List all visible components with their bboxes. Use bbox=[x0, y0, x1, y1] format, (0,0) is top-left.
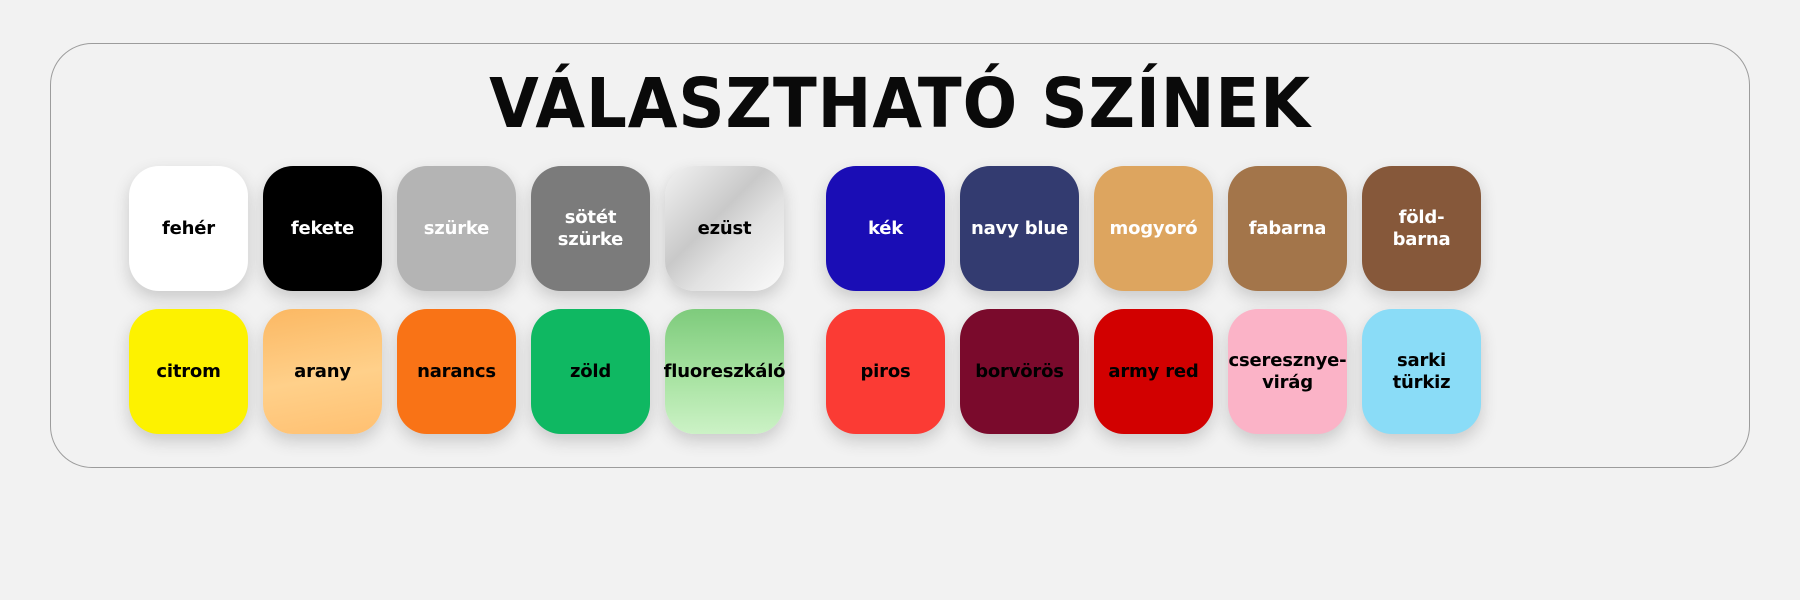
color-swatch-label: arany bbox=[289, 361, 356, 382]
color-swatch-label: piros bbox=[855, 361, 915, 382]
color-swatch-label: army red bbox=[1103, 361, 1203, 382]
color-swatch[interactable]: army red bbox=[1094, 309, 1213, 434]
swatch-group: pirosborvörösarmy redcseresznye- virágsa… bbox=[826, 309, 1481, 434]
swatch-group: fehérfeketeszürkesötét szürkeezüst bbox=[129, 166, 784, 291]
swatch-row: fehérfeketeszürkesötét szürkeezüstkéknav… bbox=[129, 166, 1675, 291]
color-swatch[interactable]: arany bbox=[263, 309, 382, 434]
color-swatch[interactable]: zöld bbox=[531, 309, 650, 434]
color-swatch[interactable]: borvörös bbox=[960, 309, 1079, 434]
color-swatch-label: fabarna bbox=[1244, 218, 1331, 239]
color-swatch[interactable]: fluoreszkáló bbox=[665, 309, 784, 434]
color-swatch[interactable]: sarki türkiz bbox=[1362, 309, 1481, 434]
color-swatch[interactable]: navy blue bbox=[960, 166, 1079, 291]
page-title: VÁLASZTHATÓ SZÍNEK bbox=[110, 70, 1689, 139]
swatch-grid: fehérfeketeszürkesötét szürkeezüstkéknav… bbox=[129, 166, 1675, 434]
color-swatch-label: kék bbox=[863, 218, 908, 239]
color-swatch[interactable]: narancs bbox=[397, 309, 516, 434]
color-swatch[interactable]: sötét szürke bbox=[531, 166, 650, 291]
color-swatch-label: ezüst bbox=[693, 218, 757, 239]
color-swatch[interactable]: fehér bbox=[129, 166, 248, 291]
color-swatch[interactable]: citrom bbox=[129, 309, 248, 434]
color-swatch[interactable]: szürke bbox=[397, 166, 516, 291]
color-swatch-label: narancs bbox=[412, 361, 501, 382]
swatch-group: citromaranynarancszöldfluoreszkáló bbox=[129, 309, 784, 434]
color-swatch[interactable]: ezüst bbox=[665, 166, 784, 291]
color-swatch-label: mogyoró bbox=[1105, 218, 1203, 239]
color-swatch[interactable]: fabarna bbox=[1228, 166, 1347, 291]
color-swatch-label: fekete bbox=[286, 218, 359, 239]
color-swatch[interactable]: mogyoró bbox=[1094, 166, 1213, 291]
color-swatch[interactable]: cseresznye- virág bbox=[1228, 309, 1347, 434]
color-swatch-label: föld- barna bbox=[1388, 207, 1456, 249]
color-swatch-label: navy blue bbox=[966, 218, 1073, 239]
color-swatch-label: szürke bbox=[419, 218, 494, 239]
color-swatch-label: citrom bbox=[151, 361, 225, 382]
color-swatch-label: sötét szürke bbox=[553, 207, 628, 249]
swatch-row: citromaranynarancszöldfluoreszkálópirosb… bbox=[129, 309, 1675, 434]
color-swatch[interactable]: kék bbox=[826, 166, 945, 291]
color-swatch-label: cseresznye- virág bbox=[1224, 350, 1352, 392]
color-swatch[interactable]: fekete bbox=[263, 166, 382, 291]
color-palette-card: VÁLASZTHATÓ SZÍNEK fehérfeketeszürkesöté… bbox=[50, 43, 1750, 468]
color-swatch[interactable]: föld- barna bbox=[1362, 166, 1481, 291]
color-swatch-label: borvörös bbox=[970, 361, 1069, 382]
color-swatch-label: fluoreszkáló bbox=[659, 361, 791, 382]
color-swatch-label: sarki türkiz bbox=[1388, 350, 1456, 392]
color-swatch[interactable]: piros bbox=[826, 309, 945, 434]
swatch-group: kéknavy bluemogyorófabarnaföld- barna bbox=[826, 166, 1481, 291]
color-swatch-label: zöld bbox=[565, 361, 616, 382]
color-swatch-label: fehér bbox=[157, 218, 220, 239]
